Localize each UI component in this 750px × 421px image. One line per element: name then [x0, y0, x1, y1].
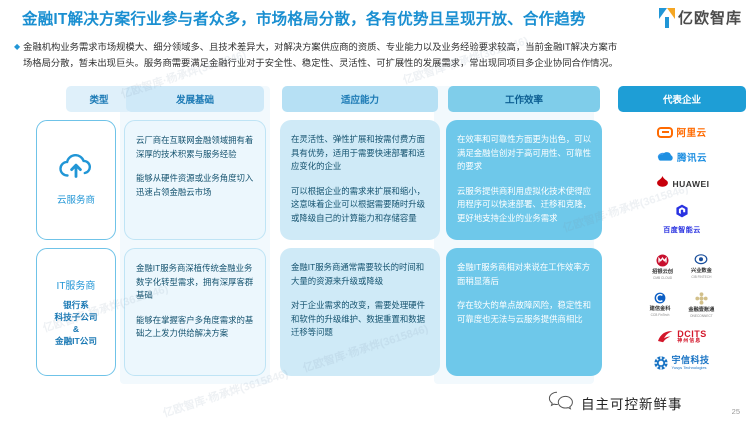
efficiency-cloud-p2: 云服务提供商利用虚拟化技术使得应用程序可以快速部署、迁移和克隆，更好地支持企业的…	[457, 185, 591, 226]
type-sublabel-it: 银行系 科技子公司 & 金融IT公司	[55, 299, 98, 347]
adaptability-cell-cloud: 在灵活性、弹性扩展和按需付费方面具有优势，适用于需要快速部署和适应变化的企业 可…	[280, 120, 440, 240]
tencent-mark-icon	[657, 151, 674, 163]
efficiency-cloud-p1: 在效率和可靠性方面更为出色，可以满足金融信创对于高可用性、可靠性的要求	[457, 133, 591, 174]
table-header-efficiency: 工作效率	[448, 86, 600, 112]
table-header-adaptability: 适应能力	[282, 86, 438, 112]
adaptability-cloud-p2: 可以根据企业的需求来扩展和缩小，这意味着企业可以根据需要随时升级或降级自己的计算…	[291, 185, 429, 226]
lead-line-2: 场格局分散，暂未出现巨头。服务商需要满足金融行业对于安全性、稳定性、灵活性、可扩…	[14, 56, 736, 72]
table-header-companies: 代表企业	[618, 86, 746, 112]
logo-row: 宇信科技 Yusys Technologies	[614, 356, 750, 370]
foundation-cell-it: 金融IT服务商深植传统金融业务数字化转型需求，拥有深厚客群基础 能够在掌握客户多…	[124, 248, 266, 376]
title-row: 金融IT解决方案行业参与者众多，市场格局分散，各有优势且呈现开放、合作趋势	[22, 6, 740, 36]
tencent-cloud-logo: 腾讯云	[657, 150, 707, 164]
efficiency-it-p1: 金融IT服务商相对来说在工作效率方面稍显落后	[457, 261, 591, 288]
dcits-cn-label: 神州信息	[677, 339, 707, 344]
huawei-mark-icon	[655, 175, 670, 193]
ccb-fintech-logo: 建信金科 CCB FinTech	[650, 292, 671, 317]
oneconnect-logo: 金融壹账通 ONECONNECT	[688, 292, 714, 318]
foundation-cloud-p1: 云厂商在互联网金融领域拥有着深厚的技术积累与服务经验	[136, 134, 254, 161]
logo-row: 腾讯云	[614, 150, 750, 164]
tencent-cloud-label: 腾讯云	[677, 150, 707, 164]
companies-cell-it: 招银云创 CMB CLOUD 兴业数金 CIB FINTECH	[614, 248, 750, 376]
foundation-cell-cloud: 云厂商在互联网金融领域拥有着深厚的技术积累与服务经验 能够从硬件资源或业务角度切…	[124, 120, 266, 240]
logo-row: 建信金科 CCB FinTech 金融壹账通 ONECONNECT	[614, 292, 750, 318]
huawei-label: HUAWEI	[673, 179, 710, 189]
page-title: 金融IT解决方案行业参与者众多，市场格局分散，各有优势且呈现开放、合作趋势	[22, 6, 740, 34]
logo-row: HUAWEI	[614, 175, 750, 193]
dcits-mark-icon	[657, 330, 674, 344]
logo-row: 百度智能云	[614, 204, 750, 235]
lead-line-1: 金融机构业务需求市场规模大、细分领域多、且技术差异大，对解决方案供应商的资质、专…	[23, 42, 617, 52]
yusys-logo: 宇信科技 Yusys Technologies	[654, 356, 709, 370]
logo-row: 阿里云	[614, 125, 750, 139]
oneconnect-en-label: ONECONNECT	[690, 314, 713, 318]
efficiency-it-p2: 存在较大的单点故障风险，稳定性和可靠度也无法与云服务提供商相比	[457, 299, 591, 326]
baidu-cloud-label: 百度智能云	[663, 225, 701, 235]
adaptability-cell-it: 金融IT服务商通常需要较长的时间和大量的资源来升级或降级 对于企业需求的改变，需…	[280, 248, 440, 376]
cmb-label: 招银云创	[652, 268, 673, 275]
type-label-it: IT服务商	[57, 277, 96, 292]
cib-en-label: CIB FINTECH	[691, 275, 711, 279]
cloud-upload-icon	[59, 154, 93, 184]
ccb-en-label: CCB FinTech	[651, 313, 670, 317]
foundation-it-p1: 金融IT服务商深植传统金融业务数字化转型需求，拥有深厚客群基础	[136, 262, 254, 303]
wechat-account-name: 自主可控新鲜事	[581, 393, 683, 413]
page-number: 25	[732, 407, 740, 416]
ccb-mark-icon	[654, 292, 666, 304]
comparison-table: 类型 发展基础 适应能力 工作效率 代表企业 云服务商 云厂商在互联网金融领域拥…	[14, 86, 736, 384]
cmb-logo: 招银云创 CMB CLOUD	[652, 254, 673, 280]
cmb-mark-icon	[656, 254, 669, 267]
wechat-icon	[548, 390, 574, 415]
footer-wechat: 自主可控新鲜事	[548, 390, 683, 415]
adaptability-it-p2: 对于企业需求的改变，需要处理硬件和软件的升级维护、数据重置和数据迁移等问题	[291, 299, 429, 340]
brand-name: 亿欧智库	[678, 7, 742, 28]
bullet-diamond-icon: ◆	[14, 42, 20, 51]
alibaba-cloud-logo: 阿里云	[657, 125, 706, 139]
companies-cell-cloud: 阿里云 腾讯云	[614, 120, 750, 240]
yiou-mark-icon	[659, 8, 676, 28]
baidu-mark-icon	[675, 204, 689, 224]
oneconnect-label: 金融壹账通	[688, 306, 714, 313]
slide: 金融IT解决方案行业参与者众多，市场格局分散，各有优势且呈现开放、合作趋势 亿欧…	[0, 0, 750, 421]
huawei-logo: HUAWEI	[655, 175, 710, 193]
cmb-en-label: CMB CLOUD	[653, 276, 672, 280]
yusys-mark-icon	[654, 356, 668, 370]
table-header-type: 类型	[66, 86, 132, 112]
dcits-logo: DCITS 神州信息	[657, 330, 707, 344]
yusys-en-label: Yusys Technologies	[671, 366, 709, 370]
cib-fintech-logo: 兴业数金 CIB FINTECH	[691, 254, 712, 279]
ccb-label: 建信金科	[650, 305, 671, 312]
brand-logo: 亿欧智库	[659, 7, 742, 28]
table-header-foundation: 发展基础	[126, 86, 264, 112]
alibaba-cloud-label: 阿里云	[676, 125, 706, 139]
cib-label: 兴业数金	[691, 267, 712, 274]
foundation-cloud-p2: 能够从硬件资源或业务角度切入迅速占领金融云市场	[136, 172, 254, 199]
type-cell-it-provider: IT服务商 银行系 科技子公司 & 金融IT公司	[36, 248, 116, 376]
type-cell-cloud-provider: 云服务商	[36, 120, 116, 240]
alibaba-mark-icon	[657, 127, 673, 138]
type-label-cloud: 云服务商	[57, 192, 95, 206]
lead-paragraph: ◆金融机构业务需求市场规模大、细分领域多、且技术差异大，对解决方案供应商的资质、…	[14, 40, 736, 71]
oneconnect-mark-icon	[695, 292, 708, 305]
logo-row: 招银云创 CMB CLOUD 兴业数金 CIB FINTECH	[614, 254, 750, 280]
adaptability-cloud-p1: 在灵活性、弹性扩展和按需付费方面具有优势，适用于需要快速部署和适应变化的企业	[291, 133, 429, 174]
adaptability-it-p1: 金融IT服务商通常需要较长的时间和大量的资源来升级或降级	[291, 261, 429, 288]
logo-row: DCITS 神州信息	[614, 330, 750, 344]
foundation-it-p2: 能够在掌握客户多角度需求的基础之上发力供给解决方案	[136, 314, 254, 341]
baidu-cloud-logo: 百度智能云	[663, 204, 701, 235]
cib-mark-icon	[694, 254, 708, 266]
efficiency-cell-it: 金融IT服务商相对来说在工作效率方面稍显落后 存在较大的单点故障风险，稳定性和可…	[446, 248, 602, 376]
efficiency-cell-cloud: 在效率和可靠性方面更为出色，可以满足金融信创对于高可用性、可靠性的要求 云服务提…	[446, 120, 602, 240]
